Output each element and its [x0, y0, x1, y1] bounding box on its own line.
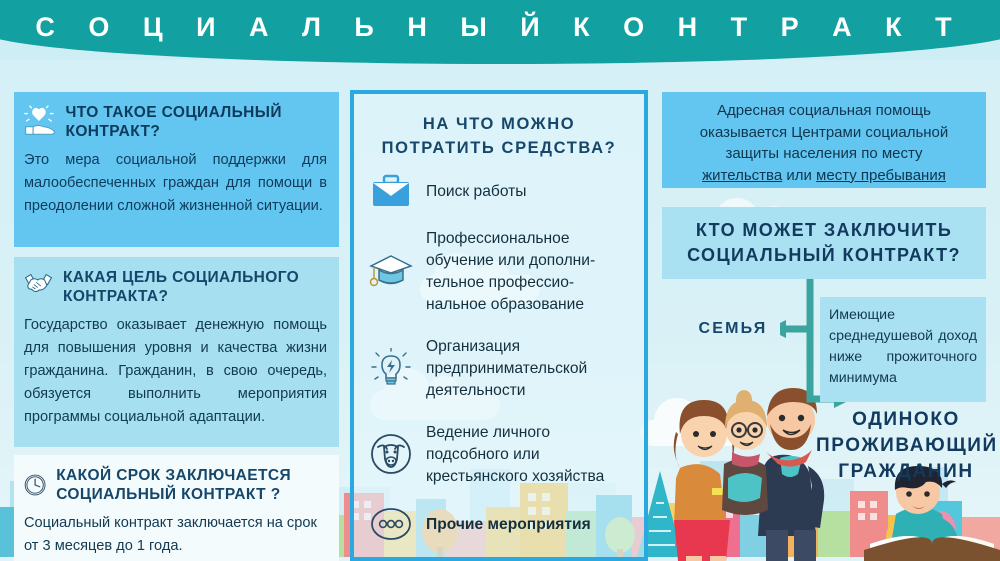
panel-what-funds-can-be-spent-on: НА ЧТО МОЖНО ПОТРАТИТЬ СРЕДСТВА? Поиск р… — [350, 90, 648, 561]
poster-title: С О Ц И А Л Ь Н Ы Й К О Н Т Р А К Т — [0, 12, 1000, 43]
spend-item-label: Поиск работы — [426, 179, 527, 203]
address-line-3: защиты населения по месту — [672, 143, 976, 165]
spend-item: Прочие мероприятия — [368, 506, 630, 542]
card-goal-of-social-contract: КАКАЯ ЦЕЛЬ СОЦИАЛЬНОГО КОНТРАКТА? Госуда… — [14, 257, 339, 447]
spend-item: Организация предпринимательской деятельн… — [368, 334, 630, 402]
address-conjunction: или — [782, 167, 816, 184]
spend-item-label: Ведение личного подсобного или крестьянс… — [426, 420, 630, 488]
card-term-of-social-contract: КАКОЙ СРОК ЗАКЛЮЧАЕТСЯ СОЦИАЛЬНЫЙ КОНТРА… — [14, 455, 339, 561]
spend-item: Поиск работы — [368, 174, 630, 208]
spend-item: Ведение личного подсобного или крестьянс… — [368, 420, 630, 488]
address-line-1: Адресная социальная помощь — [672, 100, 976, 122]
hand-heart-icon — [24, 103, 55, 139]
spend-item-label: Организация предпринимательской деятельн… — [426, 334, 630, 402]
box-targeted-social-assistance: Адресная социальная помощь оказывается Ц… — [662, 92, 986, 188]
income-box-text: Имеющие среднедушевой доход ниже прожито… — [829, 305, 977, 389]
infographic-poster: С О Ц И А Л Ь Н Ы Й К О Н Т Р А К Т ЧТО … — [0, 0, 1000, 561]
spend-item-label: Профессиональное обучение или дополни-те… — [426, 226, 630, 316]
who-box-title: КТО МОЖЕТ ЗАКЛЮЧИТЬ СОЦИАЛЬНЫЙ КОНТРАКТ? — [662, 218, 986, 268]
cow-icon — [370, 433, 412, 475]
card-title: КАКАЯ ЦЕЛЬ СОЦИАЛЬНОГО КОНТРАКТА? — [63, 268, 327, 306]
dots-circle-icon — [370, 506, 412, 542]
spend-item-label: Прочие мероприятия — [426, 512, 591, 536]
briefcase-icon — [371, 174, 411, 208]
box-who-can-conclude-contract: КТО МОЖЕТ ЗАКЛЮЧИТЬ СОЦИАЛЬНЫЙ КОНТРАКТ? — [662, 207, 986, 279]
card-title: КАКОЙ СРОК ЗАКЛЮЧАЕТСЯ СОЦИАЛЬНЫЙ КОНТРА… — [56, 466, 327, 504]
label-single-citizen: ОДИНОКО ПРОЖИВАЮЩИЙ ГРАЖДАНИН — [816, 407, 996, 485]
box-income-criteria: Имеющие среднедушевой доход ниже прожито… — [820, 297, 986, 402]
label-family: СЕМЬЯ — [678, 320, 788, 338]
clock-icon — [24, 466, 46, 504]
card-body: Государство оказывает денежную помощь дл… — [24, 314, 327, 429]
address-line-4: жительства или месту пребывания — [672, 165, 976, 187]
banner-notch — [489, 46, 511, 63]
panel-title: НА ЧТО МОЖНО ПОТРАТИТЬ СРЕДСТВА? — [368, 112, 630, 160]
card-body: Социальный контракт заключается на срок … — [24, 512, 327, 558]
handshake-icon — [24, 268, 53, 298]
lightbulb-icon — [370, 348, 412, 388]
address-link-stay[interactable]: месту пребывания — [816, 167, 946, 184]
graduation-cap-icon — [369, 253, 413, 289]
spend-item: Профессиональное обучение или дополни-те… — [368, 226, 630, 316]
card-what-is-social-contract: ЧТО ТАКОЕ СОЦИАЛЬНЫЙ КОНТРАКТ? Это мера … — [14, 92, 339, 247]
address-line-2: оказывается Центрами социальной — [672, 122, 976, 144]
card-title: ЧТО ТАКОЕ СОЦИАЛЬНЫЙ КОНТРАКТ? — [65, 103, 327, 141]
card-body: Это мера социальной поддержки для малооб… — [24, 149, 327, 218]
address-link-residence[interactable]: жительства — [702, 167, 782, 184]
